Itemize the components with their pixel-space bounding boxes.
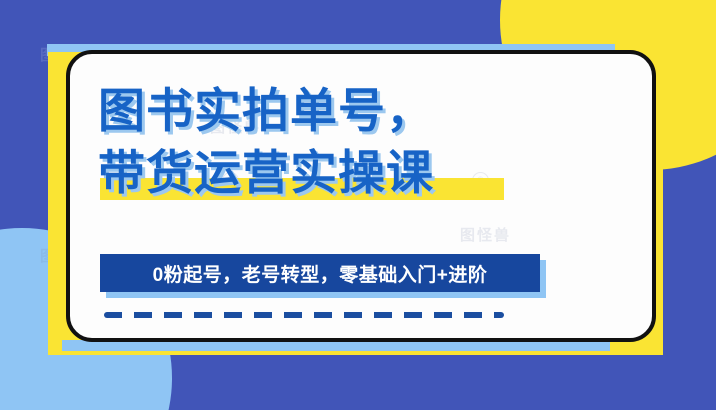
headline-line-2: 带货运营实操课 <box>98 142 628 204</box>
poster-canvas: 图怪兽 图怪兽 图怪兽 图怪兽 图怪兽 © © 图怪兽 图怪兽 图书实拍单号， … <box>0 0 716 410</box>
headline-line-2-text: 带货运营实操课 <box>98 146 434 199</box>
watermark-label: 图怪兽 <box>460 224 511 245</box>
subtitle-text: 0粉起号，老号转型，零基础入门+进阶 <box>153 260 488 287</box>
content-card: © © 图怪兽 图怪兽 图书实拍单号， 带货运营实操课 0粉起号，老号转型，零基… <box>66 50 656 342</box>
headline-block: 图书实拍单号， 带货运营实操课 <box>98 80 628 204</box>
subtitle-block: 0粉起号，老号转型，零基础入门+进阶 <box>100 254 540 292</box>
headline-line-1: 图书实拍单号， <box>98 80 628 142</box>
subtitle-bar: 0粉起号，老号转型，零基础入门+进阶 <box>100 254 540 292</box>
dashed-divider <box>104 312 504 318</box>
headline-line-1-text: 图书实拍单号， <box>98 84 434 137</box>
